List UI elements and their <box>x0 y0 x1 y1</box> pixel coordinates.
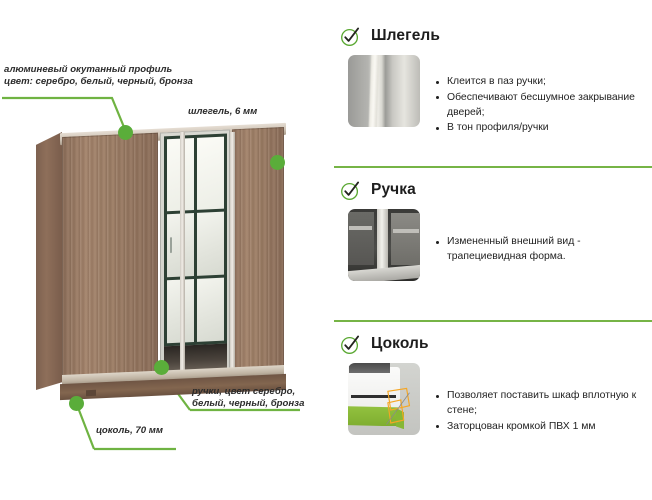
section-divider <box>334 320 652 322</box>
wardrobe-side-panel <box>36 132 62 390</box>
callout-label-handles: ручки, цвет серебро, белый, черный, брон… <box>192 386 304 411</box>
photo-dark-top <box>349 363 389 373</box>
check-circle-icon <box>340 334 361 355</box>
product-illustration-panel: алюминевый окутанный профиль цвет: сереб… <box>0 0 330 500</box>
section-header: Шлегель <box>334 22 652 50</box>
photo-detail-line <box>349 226 372 230</box>
check-circle-icon <box>340 180 361 201</box>
section-bullets: Клеится в паз ручки; Обеспечивают бесшум… <box>434 55 652 137</box>
door-left-wood <box>62 133 158 377</box>
section-title: Цоколь <box>371 335 429 353</box>
plinth-green-photo <box>348 363 420 435</box>
photo-panel-left <box>348 212 374 265</box>
section-title: Шлегель <box>371 27 440 45</box>
photo-floor <box>348 265 420 281</box>
features-panel: Шлегель Клеится в паз ручки; Обеспечиваю… <box>334 0 652 500</box>
pane <box>197 137 224 211</box>
section-divider <box>334 166 652 168</box>
section-header: Цоколь <box>334 330 652 358</box>
shlegel-seal-photo <box>348 55 420 127</box>
pane <box>197 212 224 276</box>
reflected-glass-panes <box>164 134 227 347</box>
reflected-handle <box>170 237 172 253</box>
section-body: Позволяет поставить шкаф вплотную к стен… <box>334 363 652 435</box>
section-body: Клеится в паз ручки; Обеспечивают бесшум… <box>334 55 652 137</box>
callout-label-shlegel: шлегель, 6 мм <box>188 106 257 118</box>
photo-annotation-overlay <box>385 387 417 427</box>
bullet-item: Позволяет поставить шкаф вплотную к стен… <box>434 389 652 419</box>
callout-label-profile: алюминевый окутанный профиль цвет: сереб… <box>4 64 193 89</box>
bullet-item: Измененный внешний вид - трапециевидная … <box>434 235 652 265</box>
bullet-item: В тон профиля/ручки <box>434 121 652 136</box>
wardrobe-doors <box>62 127 284 377</box>
wardrobe-front <box>60 118 286 395</box>
pane <box>197 278 224 342</box>
door-handle-right <box>230 132 235 372</box>
callout-dot-handles <box>154 360 169 375</box>
callout-label-plinth: цоколь, 70 мм <box>96 425 163 437</box>
bullet-item: Обеспечивают бесшумное закрывание дверей… <box>434 91 652 121</box>
callout-dot-shlegel <box>270 155 285 170</box>
photo-panel-right <box>391 213 420 265</box>
mirror-reflection <box>160 129 230 372</box>
infographic-page: алюминевый окутанный профиль цвет: сереб… <box>0 0 652 500</box>
photo-detail-line <box>393 229 419 233</box>
feature-section-cokol: Цоколь Позволяет поставить шкаф в <box>334 330 652 435</box>
feature-section-shlegel: Шлегель Клеится в паз ручки; Обеспечиваю… <box>334 22 652 137</box>
reflected-door-frame <box>164 134 227 347</box>
bullet-item: Заторцован кромкой ПВХ 1 мм <box>434 420 652 435</box>
section-bullets: Позволяет поставить шкаф вплотную к стен… <box>434 363 652 435</box>
brush-seal-strip <box>368 55 379 127</box>
callout-dot-profile <box>118 125 133 140</box>
feature-section-ruchka: Ручка Измененный внешний вид - трапециев… <box>334 176 652 281</box>
plinth-foot <box>86 390 96 396</box>
photo-handle-profile <box>377 209 388 271</box>
door-handle-left <box>180 132 185 372</box>
handle-profile-photo <box>348 209 420 281</box>
bullet-item: Клеится в паз ручки; <box>434 75 652 90</box>
check-circle-icon <box>340 26 361 47</box>
door-center-mirror <box>160 129 230 372</box>
section-bullets: Измененный внешний вид - трапециевидная … <box>434 209 652 281</box>
section-body: Измененный внешний вид - трапециевидная … <box>334 209 652 281</box>
callout-dot-plinth <box>69 396 84 411</box>
section-title: Ручка <box>371 181 416 199</box>
section-header: Ручка <box>334 176 652 204</box>
